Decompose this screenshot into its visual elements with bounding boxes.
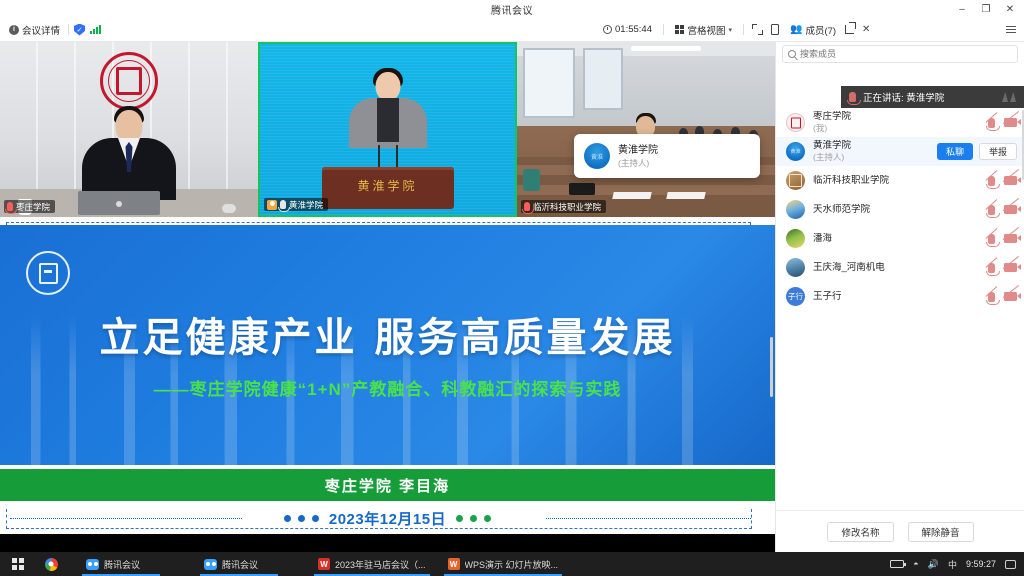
participant-status-icons — [988, 292, 1017, 302]
tile3-papers — [666, 192, 705, 199]
shared-slide[interactable]: 立足健康产业 服务高质量发展 ——枣庄学院健康“1+N”产教融合、科教融汇的探索… — [0, 217, 775, 534]
slide-dots-green — [456, 515, 491, 522]
chevron-down-icon: ▾ — [729, 26, 733, 34]
members-button[interactable]: 👥 成员(7) — [787, 21, 839, 39]
participant-name: 王子行 — [813, 291, 980, 303]
meeting-timer: 01:55:44 — [600, 22, 655, 37]
camera-off-icon[interactable] — [1004, 118, 1017, 127]
signal-bars-icon[interactable] — [90, 25, 101, 34]
participant-status-icons — [988, 118, 1017, 128]
volume-icon[interactable]: 🔊 — [928, 559, 939, 570]
meeting-stage: 枣庄学院 黄淮学院 黄淮学院 — [0, 42, 775, 534]
shield-icon[interactable]: ✓ — [74, 24, 85, 36]
tile1-laptop — [78, 191, 160, 215]
mic-muted-icon[interactable] — [988, 263, 995, 273]
mic-on-icon — [280, 200, 286, 209]
search-icon — [788, 50, 796, 58]
taskbar-item-label: WPS演示 幻灯片放映... — [465, 558, 559, 571]
slide-presenter-bar: 枣庄学院 李目海 — [0, 469, 775, 501]
meeting-info-label: 会议详情 — [22, 23, 60, 37]
tencent-meeting-icon — [86, 559, 99, 570]
list-item[interactable]: 天水师范学院 — [776, 195, 1024, 224]
ime-indicator[interactable]: 中 — [948, 558, 957, 571]
mic-muted-icon[interactable] — [988, 234, 995, 244]
tile1-university-emblem — [100, 52, 158, 110]
report-button[interactable]: 举报 — [979, 143, 1017, 160]
video-tile-3-name: 临沂科技职业学院 — [533, 201, 601, 213]
phone-icon[interactable] — [771, 24, 779, 35]
floating-card-text: 黄淮学院 (主持人) — [618, 144, 658, 169]
avatar — [786, 200, 805, 219]
taskbar-item-label: 腾讯会议 — [104, 558, 140, 571]
battery-icon[interactable] — [890, 560, 904, 568]
participant-name-block: 潘海 — [813, 233, 980, 245]
participant-name: 天水师范学院 — [813, 204, 980, 216]
list-item[interactable]: 黄淮 黄淮学院 (主持人) 私聊 举报 — [776, 137, 1024, 166]
info-icon: i — [9, 25, 19, 35]
timer-label: 01:55:44 — [615, 24, 652, 35]
slide-footer-row: 2023年12月15日 — [0, 505, 775, 531]
mic-muted-icon[interactable] — [988, 205, 995, 215]
wifi-icon[interactable]: ◓ — [913, 559, 918, 569]
slide-dots-blue — [284, 515, 319, 522]
mic-muted-icon[interactable] — [988, 292, 995, 302]
system-tray: ◓ 🔊 中 9:59:27 — [890, 552, 1024, 576]
close-icon[interactable]: ✕ — [998, 0, 1022, 18]
slide-subtitle: ——枣庄学院健康“1+N”产教融合、科教融汇的探索与实践 — [0, 375, 775, 400]
logo-mark — [39, 263, 58, 284]
chrome-icon — [45, 558, 58, 571]
list-item[interactable]: 潘海 — [776, 224, 1024, 253]
participant-name-block: 天水师范学院 — [813, 204, 980, 216]
list-item[interactable]: 临沂科技职业学院 — [776, 166, 1024, 195]
tile2-podium-text: 黄淮学院 — [357, 177, 417, 194]
wps-presentation-icon: W — [448, 558, 460, 570]
mic-muted-icon — [7, 202, 13, 211]
speaking-banner-label: 正在讲话: 黄淮学院 — [863, 90, 944, 104]
participant-name-block: 黄淮学院 (主持人) — [813, 140, 929, 163]
participant-status-icons — [988, 234, 1017, 244]
participant-role: (我) — [813, 123, 980, 134]
list-item[interactable]: 枣庄学院 (我) — [776, 108, 1024, 137]
maximize-icon[interactable]: ❐ — [974, 0, 998, 18]
popout-icon[interactable] — [845, 25, 854, 34]
tile2-podium: 黄淮学院 — [322, 167, 454, 209]
participant-name-block: 王子行 — [813, 291, 980, 303]
tile2-podium-mics — [368, 143, 408, 169]
toolbar-center-group: 01:55:44 宫格视图 ▾ 👥 成员(7) — [600, 21, 839, 39]
windows-logo-icon — [12, 558, 24, 570]
taskbar-item-wps-writer[interactable]: W 2023年驻马店会议（... — [310, 552, 434, 576]
mic-muted-icon[interactable] — [988, 176, 995, 186]
video-tile-1[interactable]: 枣庄学院 — [0, 42, 258, 217]
participant-name-block: 王庆海_河南机电 — [813, 262, 980, 274]
tile3-kettle — [523, 169, 540, 191]
rename-button[interactable]: 修改名称 — [827, 522, 893, 542]
toolbar-left-group: i 会议详情 ✓ — [0, 21, 101, 39]
camera-off-icon[interactable] — [1004, 205, 1017, 214]
participants-list[interactable]: 枣庄学院 (我) 黄淮 黄淮学院 (主持人) 私聊 举报 临沂科技职业学院 — [776, 108, 1024, 552]
toolbar-divider — [68, 24, 69, 35]
taskbar: 腾讯会议 腾讯会议 W 2023年驻马店会议（... W WPS演示 幻灯片放映… — [0, 552, 1024, 576]
toolbar-right-group: ✕ — [845, 24, 870, 35]
search-box[interactable] — [782, 45, 1018, 63]
tile3-ceiling-light — [631, 46, 701, 51]
start-button[interactable] — [0, 552, 36, 576]
camera-off-icon[interactable] — [1004, 263, 1017, 272]
toolbar-divider — [663, 24, 664, 35]
mic-muted-icon — [849, 92, 856, 102]
minimize-icon[interactable]: – — [950, 0, 974, 18]
slide-date: 2023年12月15日 — [329, 508, 446, 529]
view-mode-button[interactable]: 宫格视图 ▾ — [672, 21, 735, 39]
speaker-icon — [267, 200, 277, 210]
participant-status-icons — [988, 176, 1017, 186]
participant-name: 潘海 — [813, 233, 980, 245]
meeting-info-button[interactable]: i 会议详情 — [6, 21, 63, 39]
participant-name: 枣庄学院 — [813, 111, 980, 123]
tencent-meeting-icon — [204, 559, 217, 570]
avatar: 子行 — [786, 287, 805, 306]
close-panel-icon[interactable]: ✕ — [862, 24, 870, 35]
camera-off-icon[interactable] — [1004, 292, 1017, 301]
unmute-button[interactable]: 解除静音 — [908, 522, 974, 542]
meeting-toolbar: i 会议详情 ✓ 01:55:44 宫格视图 ▾ 👥 成员(7) ✕ — [0, 18, 1024, 42]
slide-scrollbar[interactable] — [770, 337, 773, 397]
window-titlebar: 腾讯会议 – ❐ ✕ — [0, 0, 1024, 18]
participants-panel: 正在讲话: 黄淮学院 枣庄学院 (我) 黄淮 黄淮学院 (主持人) 私聊 举报 — [775, 42, 1024, 552]
participants-panel-footer: 修改名称 解除静音 — [776, 510, 1024, 552]
participant-role: (主持人) — [813, 152, 929, 163]
slide-title: 立足健康产业 服务高质量发展 — [0, 305, 775, 363]
mic-muted-icon[interactable] — [988, 118, 995, 128]
video-tile-3[interactable]: 临沂科技职业学院 — [517, 42, 775, 217]
window-title: 腾讯会议 — [491, 2, 533, 17]
participant-status-icons — [988, 263, 1017, 273]
taskbar-item-label: 2023年驻马店会议（... — [335, 558, 426, 571]
speaking-banner: 正在讲话: 黄淮学院 — [841, 86, 1024, 108]
participant-name: 王庆海_河南机电 — [813, 262, 980, 274]
avatar — [786, 171, 805, 190]
floating-card-role: (主持人) — [618, 157, 658, 169]
tile3-window-1 — [523, 48, 575, 118]
tile3-window-2 — [583, 48, 623, 110]
video-tile-2-name: 黄淮学院 — [289, 199, 323, 211]
wps-writer-icon: W — [318, 558, 330, 570]
floating-card-name: 黄淮学院 — [618, 144, 658, 157]
avatar — [786, 258, 805, 277]
tile2-person-inner — [377, 98, 399, 142]
clock-icon — [603, 25, 612, 34]
camera-off-icon[interactable] — [1004, 234, 1017, 243]
avatar: 黄淮 — [786, 142, 805, 161]
taskbar-item-tencent-meeting-1[interactable]: 腾讯会议 — [78, 552, 164, 576]
notification-icon[interactable] — [1005, 560, 1016, 569]
window-controls: – ❐ ✕ — [950, 0, 1022, 18]
participant-name: 临沂科技职业学院 — [813, 175, 980, 187]
slide-university-logo — [26, 251, 70, 295]
avatar — [786, 229, 805, 248]
view-mode-label: 宫格视图 — [687, 23, 725, 37]
video-tile-2-name-badge: 黄淮学院 — [264, 198, 328, 211]
avatar — [786, 113, 805, 132]
search-input[interactable] — [800, 49, 1012, 59]
taskbar-item-wps-presentation[interactable]: W WPS演示 幻灯片放映... — [440, 552, 567, 576]
slide-body: 立足健康产业 服务高质量发展 ——枣庄学院健康“1+N”产教融合、科教融汇的探索… — [0, 225, 775, 465]
avatar: 黄淮 — [584, 143, 610, 169]
taskbar-item-label: 腾讯会议 — [222, 558, 258, 571]
tile3-phone — [569, 183, 595, 195]
video-tile-3-name-badge: 临沂科技职业学院 — [521, 200, 606, 213]
participant-name: 黄淮学院 — [813, 140, 929, 152]
video-strip: 枣庄学院 黄淮学院 黄淮学院 — [0, 42, 775, 217]
members-label: 成员(7) — [805, 23, 836, 37]
camera-off-icon[interactable] — [1004, 176, 1017, 185]
video-tile-1-name: 枣庄学院 — [16, 201, 50, 213]
participant-status-icons — [988, 205, 1017, 215]
video-tile-2[interactable]: 黄淮学院 黄淮学院 — [258, 42, 517, 217]
floating-participant-card[interactable]: 黄淮 黄淮学院 (主持人) — [574, 134, 760, 178]
participant-name-block: 临沂科技职业学院 — [813, 175, 980, 187]
participant-actions: 私聊 举报 — [937, 143, 1017, 160]
people-icon: 👥 — [790, 24, 802, 35]
tile3-papers — [612, 192, 651, 199]
clock[interactable]: 9:59:27 — [966, 559, 996, 569]
mic-muted-icon — [524, 202, 530, 211]
private-chat-button[interactable]: 私聊 — [937, 143, 973, 160]
participant-name-block: 枣庄学院 (我) — [813, 111, 980, 134]
tile2-person-head — [375, 72, 400, 101]
tile1-mouse — [222, 204, 236, 213]
taskbar-item-tencent-meeting-2[interactable]: 腾讯会议 — [196, 552, 282, 576]
slide-presenter-label: 枣庄学院 李目海 — [325, 475, 450, 496]
grid-view-icon — [675, 25, 685, 35]
list-item[interactable]: 王庆海_河南机电 — [776, 253, 1024, 282]
toolbar-divider — [743, 24, 744, 35]
search-row — [776, 42, 1024, 66]
audio-wave-icon — [1002, 92, 1016, 102]
fullscreen-icon[interactable] — [752, 24, 763, 35]
video-tile-1-name-badge: 枣庄学院 — [4, 200, 55, 213]
hamburger-icon[interactable] — [1006, 26, 1016, 34]
taskbar-chrome-button[interactable] — [36, 552, 66, 576]
list-item[interactable]: 子行 王子行 — [776, 282, 1024, 311]
